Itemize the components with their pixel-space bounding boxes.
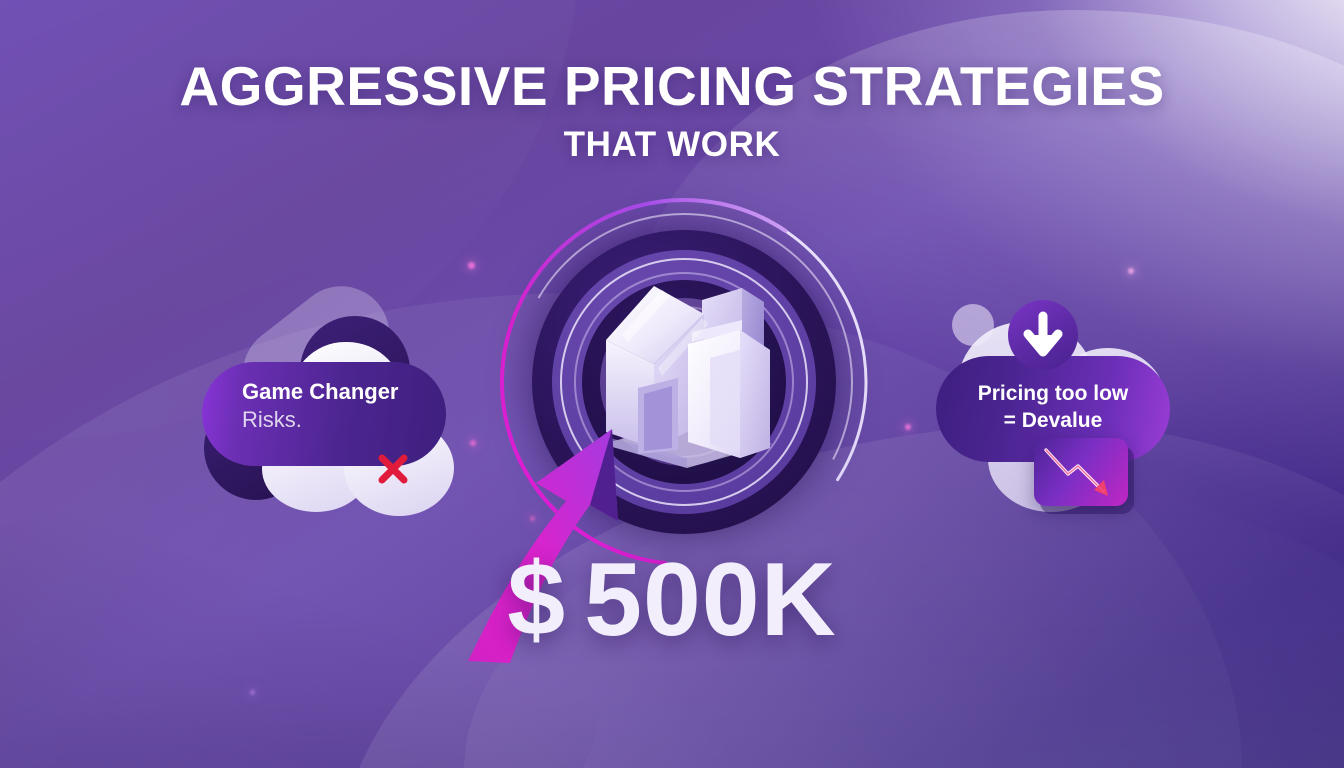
price-currency: $ [507,548,566,652]
callout-right-line1: Pricing too low [936,380,1170,407]
declining-chart-icon [1034,438,1128,506]
callout-right[interactable]: Pricing too low = Devalue [930,296,1180,516]
heading-block: AGGRESSIVE PRICING STRATEGIES THAT WORK [0,58,1344,165]
arrow-down-icon [1008,300,1078,370]
callout-right-line2: = Devalue [936,407,1170,434]
callout-left-line1: Game Changer [242,380,399,405]
arrow-down-badge [1008,300,1078,370]
page-title: AGGRESSIVE PRICING STRATEGIES [0,58,1344,115]
infographic-canvas: AGGRESSIVE PRICING STRATEGIES THAT WORK [0,0,1344,768]
sparkle-dot [250,690,255,695]
sparkle-dot [468,262,475,269]
sparkle-dot [1128,268,1134,274]
page-subtitle: THAT WORK [0,125,1344,165]
callout-left[interactable]: Game Changer Risks. [196,300,466,516]
callout-right-text: Pricing too low = Devalue [936,380,1170,435]
callout-left-text: Game Changer Risks. [242,380,399,433]
declining-chart-card [1034,438,1128,506]
callout-left-line2: Risks. [242,407,399,434]
price-display: $500K [0,548,1344,652]
red-x-icon [374,450,412,488]
price-amount: 500K [584,542,837,658]
sparkle-dot [905,424,911,430]
